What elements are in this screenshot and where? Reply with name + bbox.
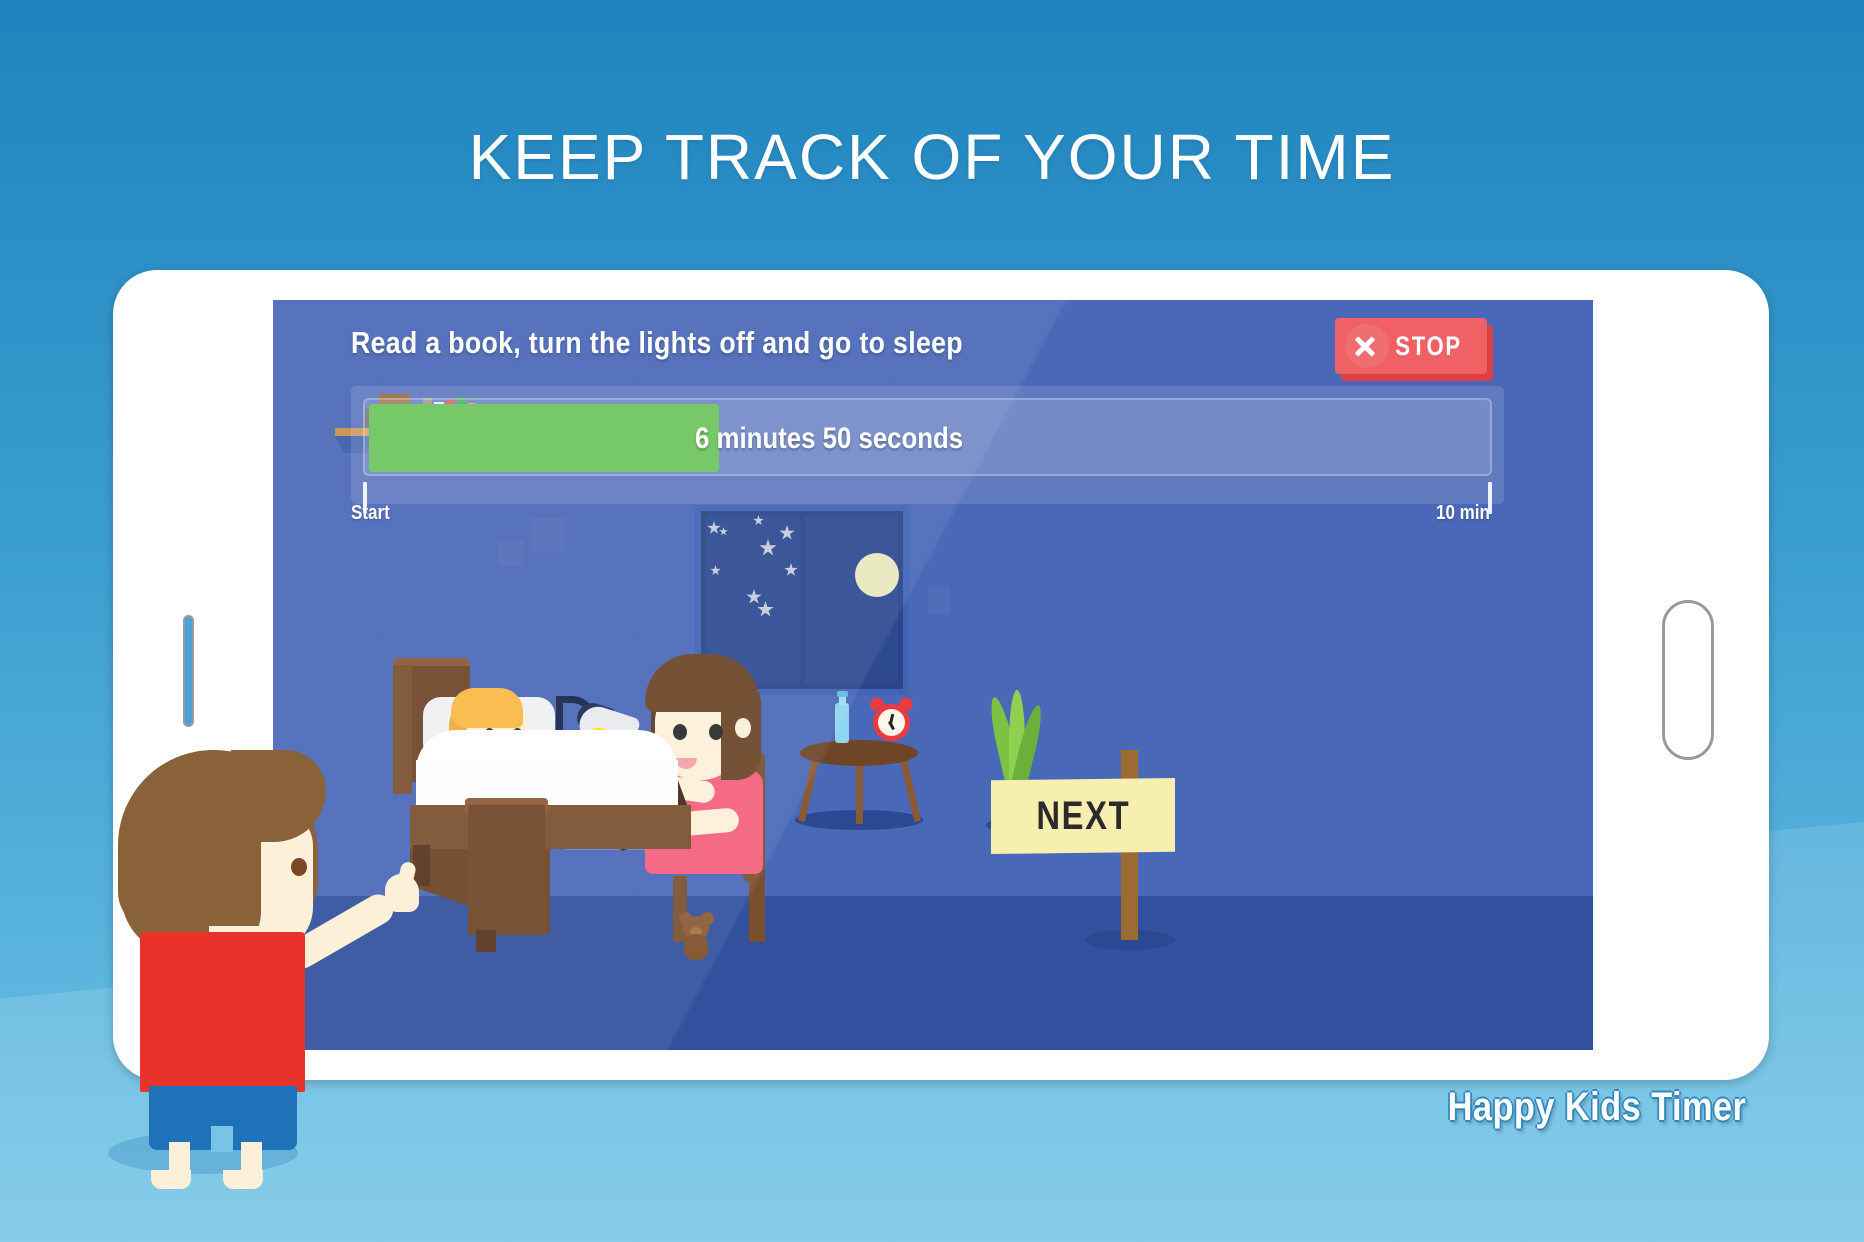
water-bottle-cap <box>837 691 848 697</box>
water-bottle <box>835 703 849 743</box>
progress-end-label: 10 min <box>1436 502 1490 525</box>
progress-segment <box>431 404 447 472</box>
wall-decor-square <box>498 540 524 566</box>
wall-decor-square <box>531 518 565 552</box>
close-x-icon <box>1353 334 1377 358</box>
presenter-eye <box>291 858 307 876</box>
parent-eye <box>673 724 687 740</box>
progress-segment <box>491 404 507 472</box>
bed-footboard <box>468 805 545 935</box>
bed-leg <box>476 930 496 952</box>
presenter-foot <box>223 1170 263 1189</box>
progress-track: 6 minutes 50 seconds <box>363 398 1492 476</box>
progress-segment <box>611 404 627 472</box>
task-title: Read a book, turn the lights off and go … <box>351 325 963 361</box>
star-icon <box>746 589 762 605</box>
progress-segment <box>391 404 407 472</box>
stop-button[interactable]: STOP <box>1335 318 1487 374</box>
stop-button-label: STOP <box>1395 331 1461 362</box>
next-sign-label: NEXT <box>1036 794 1130 839</box>
presenter-shirt <box>140 932 305 1092</box>
app-screen: NEXT <box>273 300 1593 1050</box>
progress-fill <box>369 404 719 472</box>
chair-leg <box>749 870 765 942</box>
progress-segment <box>631 404 647 472</box>
bedside-table <box>800 740 918 766</box>
window-pane-right <box>805 516 899 684</box>
progress-segment <box>371 404 387 472</box>
star-icon <box>784 563 798 577</box>
boy-presenter <box>113 750 423 1170</box>
progress-segment <box>451 404 467 472</box>
presenter-foot <box>151 1170 191 1189</box>
crescent-moon-icon <box>848 546 905 603</box>
presenter-shorts-gap <box>211 1126 233 1152</box>
bed-frame <box>410 805 691 849</box>
next-sign-button[interactable]: NEXT <box>991 778 1175 854</box>
teddy-bear-body <box>684 934 708 960</box>
progress-start-label: Start <box>351 502 390 525</box>
child-hair-fringe <box>451 688 523 728</box>
progress-segment <box>471 404 487 472</box>
phone-home-button[interactable] <box>1662 600 1714 760</box>
progress-segment <box>591 404 607 472</box>
star-icon <box>759 539 777 557</box>
progress-segment <box>551 404 567 472</box>
progress-segment <box>531 404 547 472</box>
parent-eye <box>709 724 723 740</box>
table-leg <box>856 760 863 824</box>
progress-segment <box>411 404 427 472</box>
page-headline: KEEP TRACK OF YOUR TIME <box>0 120 1864 194</box>
stop-button-face: STOP <box>1335 318 1487 374</box>
brand-wordmark: Happy Kids Timer <box>1447 1085 1746 1130</box>
progress-segment <box>571 404 587 472</box>
progress-segment <box>511 404 527 472</box>
wall-decor-square <box>928 588 950 614</box>
timer-progress-bar[interactable]: 6 minutes 50 seconds <box>351 386 1504 504</box>
phone-speaker <box>183 615 194 727</box>
parent-ear <box>735 718 751 738</box>
star-icon <box>719 527 728 536</box>
time-remaining-label: 6 minutes 50 seconds <box>695 400 963 476</box>
